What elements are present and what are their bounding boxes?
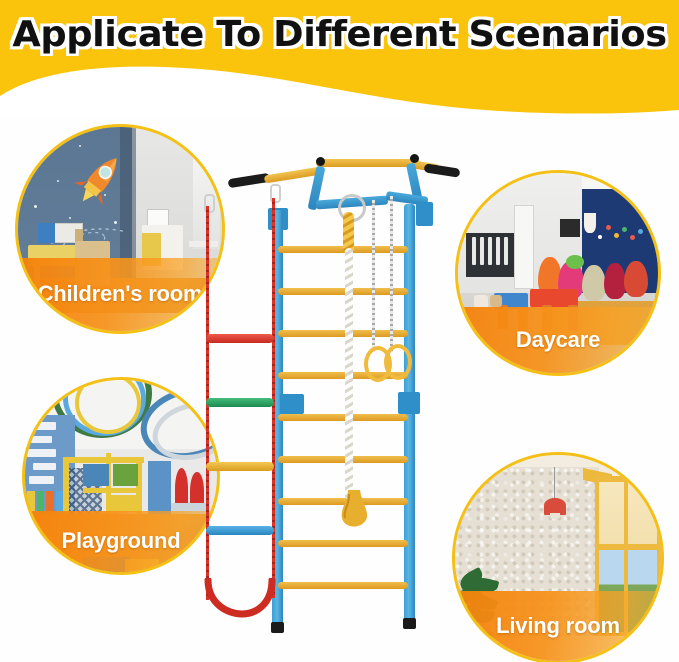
pull-up-bar-center (316, 159, 420, 167)
rope-ladder-rung-blue (206, 526, 274, 535)
scene-label-text: Living room (490, 615, 626, 637)
pull-up-bar-grip-right (424, 163, 461, 178)
wall-rung (278, 540, 408, 547)
product-wall-bars-gym (228, 148, 458, 634)
scene-label-text: Playground (55, 530, 186, 552)
rope-ladder-cord-right (272, 198, 275, 598)
scene-label-text: Daycare (510, 329, 606, 351)
gym-ring-chain-left (372, 200, 375, 352)
scene-label-band-daycare: Daycare (458, 307, 658, 373)
frame-foot-right (403, 618, 416, 629)
scene-label-band-living-room: Living room (455, 591, 661, 661)
scene-circle-children-room[interactable]: Children's room (15, 124, 225, 334)
rope-ladder-rung-red (206, 334, 274, 343)
wall-rung (278, 582, 408, 589)
infographic-canvas: Applicate To Different Scenarios (0, 0, 679, 662)
climbing-rope-foot-knot (336, 488, 376, 534)
scene-circle-playground[interactable]: Playground (22, 377, 220, 575)
climbing-rope (345, 248, 353, 500)
rope-ladder-bottom-loop (198, 578, 284, 618)
rope-ladder-rung-yellow (206, 462, 274, 471)
wall-bracket-top-right (416, 202, 433, 226)
gym-ring-chain-right (390, 196, 393, 352)
gym-ring-right (384, 344, 412, 380)
wall-rung (278, 456, 408, 463)
wall-bracket-mid-right (398, 392, 420, 414)
header-banner: Applicate To Different Scenarios (0, 0, 679, 118)
wall-bracket-mid-left (280, 394, 304, 414)
frame-foot-left (271, 622, 284, 633)
bar-knob-left (316, 157, 325, 166)
page-title: Applicate To Different Scenarios (0, 14, 679, 55)
wall-rung (278, 288, 408, 295)
wall-rung (278, 414, 408, 421)
scene-circle-living-room[interactable]: Living room (452, 452, 664, 662)
scene-label-text: Children's room (32, 283, 209, 305)
scene-label-band-children-room: Children's room (18, 258, 222, 331)
scene-circle-daycare[interactable]: Daycare (455, 170, 661, 376)
scene-label-band-playground: Playground (25, 511, 217, 572)
rope-ladder-rung-green (206, 398, 274, 407)
bar-knob-right (410, 154, 419, 163)
rocket-mural-icon (65, 147, 134, 212)
wall-rung (278, 330, 408, 337)
